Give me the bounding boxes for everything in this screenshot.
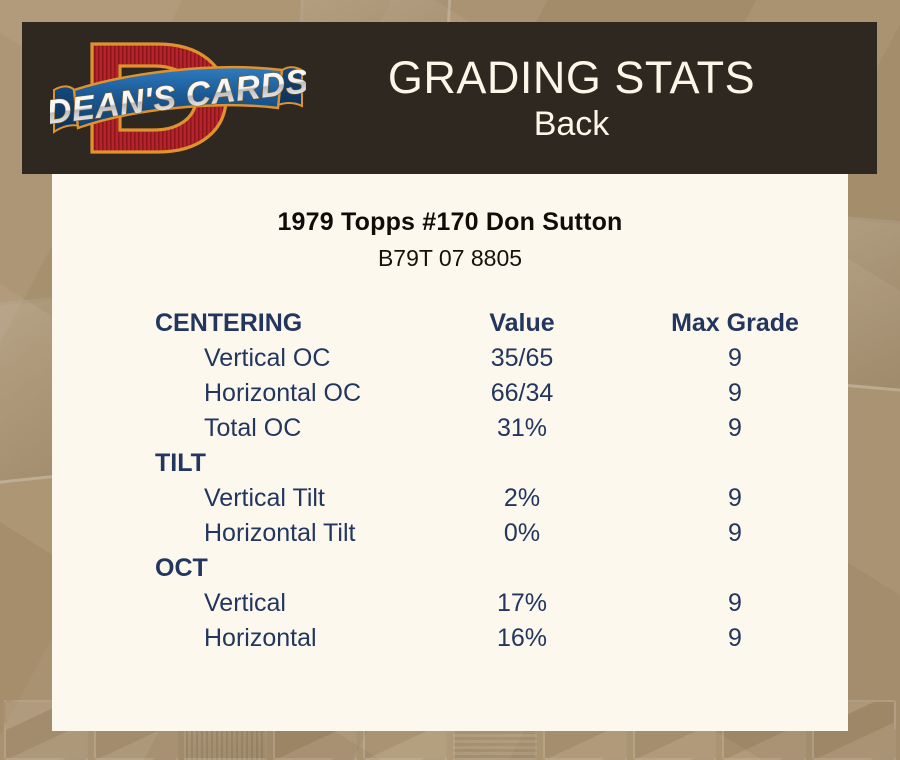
- stat-label: Horizontal OC: [52, 376, 422, 411]
- section-header-label: OCT: [52, 551, 422, 586]
- stat-max-grade: 9: [622, 516, 848, 551]
- table-row: Horizontal Tilt0%9: [52, 516, 848, 551]
- card-serial-number: B79T 07 8805: [52, 245, 848, 272]
- section-header-spacer: [622, 551, 848, 586]
- section-header-label: CENTERING: [52, 306, 422, 341]
- deans-cards-logo: DEAN'S CARDS: [50, 28, 306, 168]
- stat-value: 31%: [422, 411, 622, 446]
- stat-value: 35/65: [422, 341, 622, 376]
- stat-label: Horizontal Tilt: [52, 516, 422, 551]
- table-row: Vertical OC35/659: [52, 341, 848, 376]
- header-titles: GRADING STATS Back: [306, 54, 877, 143]
- table-row: Horizontal16%9: [52, 621, 848, 656]
- stats-section-header: OCT: [52, 551, 848, 586]
- table-row: Horizontal OC66/349: [52, 376, 848, 411]
- table-row: Vertical Tilt2%9: [52, 481, 848, 516]
- grading-stats-table: CENTERINGValueMax GradeVertical OC35/659…: [52, 306, 848, 656]
- stat-value: 17%: [422, 586, 622, 621]
- column-header-max-grade: Max Grade: [622, 306, 848, 341]
- section-header-spacer: [622, 446, 848, 481]
- content-panel: 1979 Topps #170 Don Sutton B79T 07 8805 …: [52, 174, 848, 731]
- stat-max-grade: 9: [622, 481, 848, 516]
- stat-value: 2%: [422, 481, 622, 516]
- stats-section-header: CENTERINGValueMax Grade: [52, 306, 848, 341]
- stat-label: Vertical OC: [52, 341, 422, 376]
- stat-max-grade: 9: [622, 586, 848, 621]
- section-header-label: TILT: [52, 446, 422, 481]
- section-header-spacer: [422, 446, 622, 481]
- header-bar: DEAN'S CARDS GRADING STATS Back: [22, 22, 877, 174]
- stat-max-grade: 9: [622, 341, 848, 376]
- stat-label: Horizontal: [52, 621, 422, 656]
- table-row: Total OC31%9: [52, 411, 848, 446]
- table-row: Vertical17%9: [52, 586, 848, 621]
- stat-value: 66/34: [422, 376, 622, 411]
- stat-max-grade: 9: [622, 621, 848, 656]
- stats-section-header: TILT: [52, 446, 848, 481]
- stat-label: Total OC: [52, 411, 422, 446]
- stat-label: Vertical: [52, 586, 422, 621]
- stat-value: 16%: [422, 621, 622, 656]
- section-header-spacer: [422, 551, 622, 586]
- column-header-value: Value: [422, 306, 622, 341]
- page-subtitle: Back: [306, 107, 837, 143]
- stat-label: Vertical Tilt: [52, 481, 422, 516]
- stat-value: 0%: [422, 516, 622, 551]
- stat-max-grade: 9: [622, 376, 848, 411]
- page-title: GRADING STATS: [306, 54, 837, 101]
- card-title: 1979 Topps #170 Don Sutton: [52, 208, 848, 237]
- stat-max-grade: 9: [622, 411, 848, 446]
